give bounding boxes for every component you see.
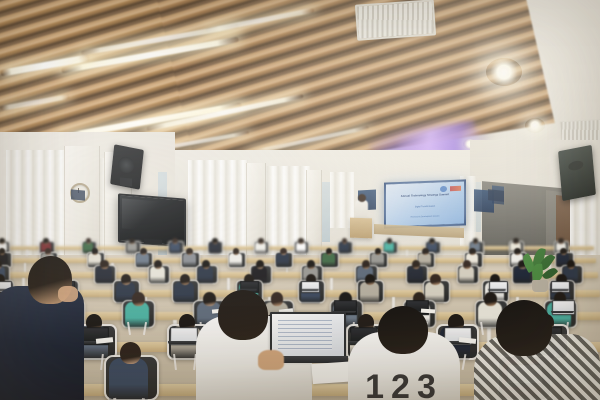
audience-member-head bbox=[463, 260, 471, 269]
audience-member-head bbox=[473, 238, 478, 244]
audience-member-head bbox=[412, 260, 420, 269]
audience-member-torso bbox=[96, 266, 112, 284]
audience-member-torso bbox=[170, 242, 180, 254]
audience-member-head bbox=[100, 260, 108, 269]
audience-member-torso bbox=[209, 242, 219, 254]
wall-sign bbox=[488, 189, 504, 202]
audience-member-torso bbox=[408, 266, 424, 284]
audience-member-head bbox=[375, 248, 382, 255]
table-leg bbox=[26, 250, 28, 256]
lectern bbox=[350, 218, 372, 239]
laptop-base bbox=[300, 289, 319, 291]
presenter-head bbox=[358, 194, 366, 202]
recessed-downlight bbox=[525, 118, 545, 133]
audience-member-torso bbox=[276, 253, 289, 267]
audience-member-head bbox=[180, 274, 190, 285]
audience-member-head bbox=[86, 238, 91, 244]
audience-member-torso bbox=[174, 282, 193, 304]
audience-member-head bbox=[365, 274, 375, 285]
audience-member-head bbox=[154, 260, 162, 269]
table-leg bbox=[406, 250, 408, 256]
display-glare bbox=[122, 198, 162, 231]
audience-member-head bbox=[469, 248, 476, 255]
audience-member-torso bbox=[136, 253, 149, 267]
audience-member-torso bbox=[198, 266, 214, 284]
potted-plant bbox=[520, 248, 564, 292]
audience-member-head bbox=[496, 300, 552, 356]
audience-member-head bbox=[121, 274, 131, 285]
audience-member-torso bbox=[296, 242, 306, 254]
audience-member-head bbox=[298, 238, 303, 244]
laptop-base bbox=[168, 341, 197, 344]
audience-member-head bbox=[430, 274, 440, 285]
audience-member-head bbox=[129, 238, 134, 244]
audience-member-head bbox=[422, 248, 429, 255]
ac-vent-grille bbox=[355, 0, 436, 41]
audience-member-torso bbox=[255, 242, 265, 254]
training-table bbox=[0, 272, 598, 278]
audience-member-head bbox=[256, 260, 264, 269]
audience-member-head bbox=[172, 238, 177, 244]
audience-member-torso bbox=[229, 253, 242, 267]
wall-sign bbox=[71, 189, 85, 200]
audience-member-head bbox=[202, 260, 210, 269]
audience-member-head bbox=[558, 238, 563, 244]
audience-member-head bbox=[43, 238, 48, 244]
window-glass bbox=[322, 182, 330, 242]
audience-member-head bbox=[212, 238, 217, 244]
audience-member-head bbox=[218, 290, 268, 340]
audience-member-head bbox=[326, 248, 333, 255]
audience-member-head bbox=[258, 238, 263, 244]
audience-member-head bbox=[132, 292, 145, 306]
audience-member-head bbox=[567, 260, 575, 269]
audience-member-head bbox=[0, 238, 5, 244]
audience-member-head bbox=[362, 260, 370, 269]
audience-member-hand bbox=[258, 350, 284, 370]
curtain-panel bbox=[6, 150, 68, 270]
audience-member-torso bbox=[322, 253, 335, 267]
slide-logo-icon bbox=[450, 186, 461, 191]
audience-member-head bbox=[387, 238, 392, 244]
audience-member-head bbox=[378, 306, 428, 354]
audience-member-head bbox=[203, 292, 216, 306]
audience-member-torso bbox=[360, 282, 379, 304]
jersey-number: 123 bbox=[352, 368, 456, 400]
laptop-screen-content bbox=[278, 320, 332, 350]
audience-member-torso bbox=[109, 358, 148, 400]
conference-room-photo: Annual Technology Strategy Summit Digita… bbox=[0, 0, 600, 400]
wall-speaker bbox=[558, 145, 596, 201]
audience-member-head bbox=[484, 292, 497, 306]
audience-member-torso bbox=[183, 253, 196, 267]
audience-member-head bbox=[186, 248, 193, 255]
audience-member-head bbox=[280, 248, 287, 255]
speaker-bracket bbox=[120, 177, 132, 186]
audience-member-torso bbox=[150, 266, 166, 284]
audience-member-head bbox=[307, 260, 315, 269]
audience-member-torso bbox=[459, 266, 475, 284]
audience-member-torso bbox=[339, 242, 349, 254]
audience-member-head bbox=[271, 292, 284, 306]
audience-member-head bbox=[140, 248, 147, 255]
audience-member-head bbox=[342, 238, 347, 244]
audience-member-face bbox=[58, 286, 78, 302]
laptop-base bbox=[488, 289, 507, 291]
recessed-downlight bbox=[486, 58, 522, 86]
laptop[interactable] bbox=[301, 281, 320, 293]
audience-member-head bbox=[513, 238, 518, 244]
audience-member-head bbox=[120, 342, 141, 364]
audience-member-head bbox=[429, 238, 434, 244]
handout-papers bbox=[421, 308, 435, 313]
